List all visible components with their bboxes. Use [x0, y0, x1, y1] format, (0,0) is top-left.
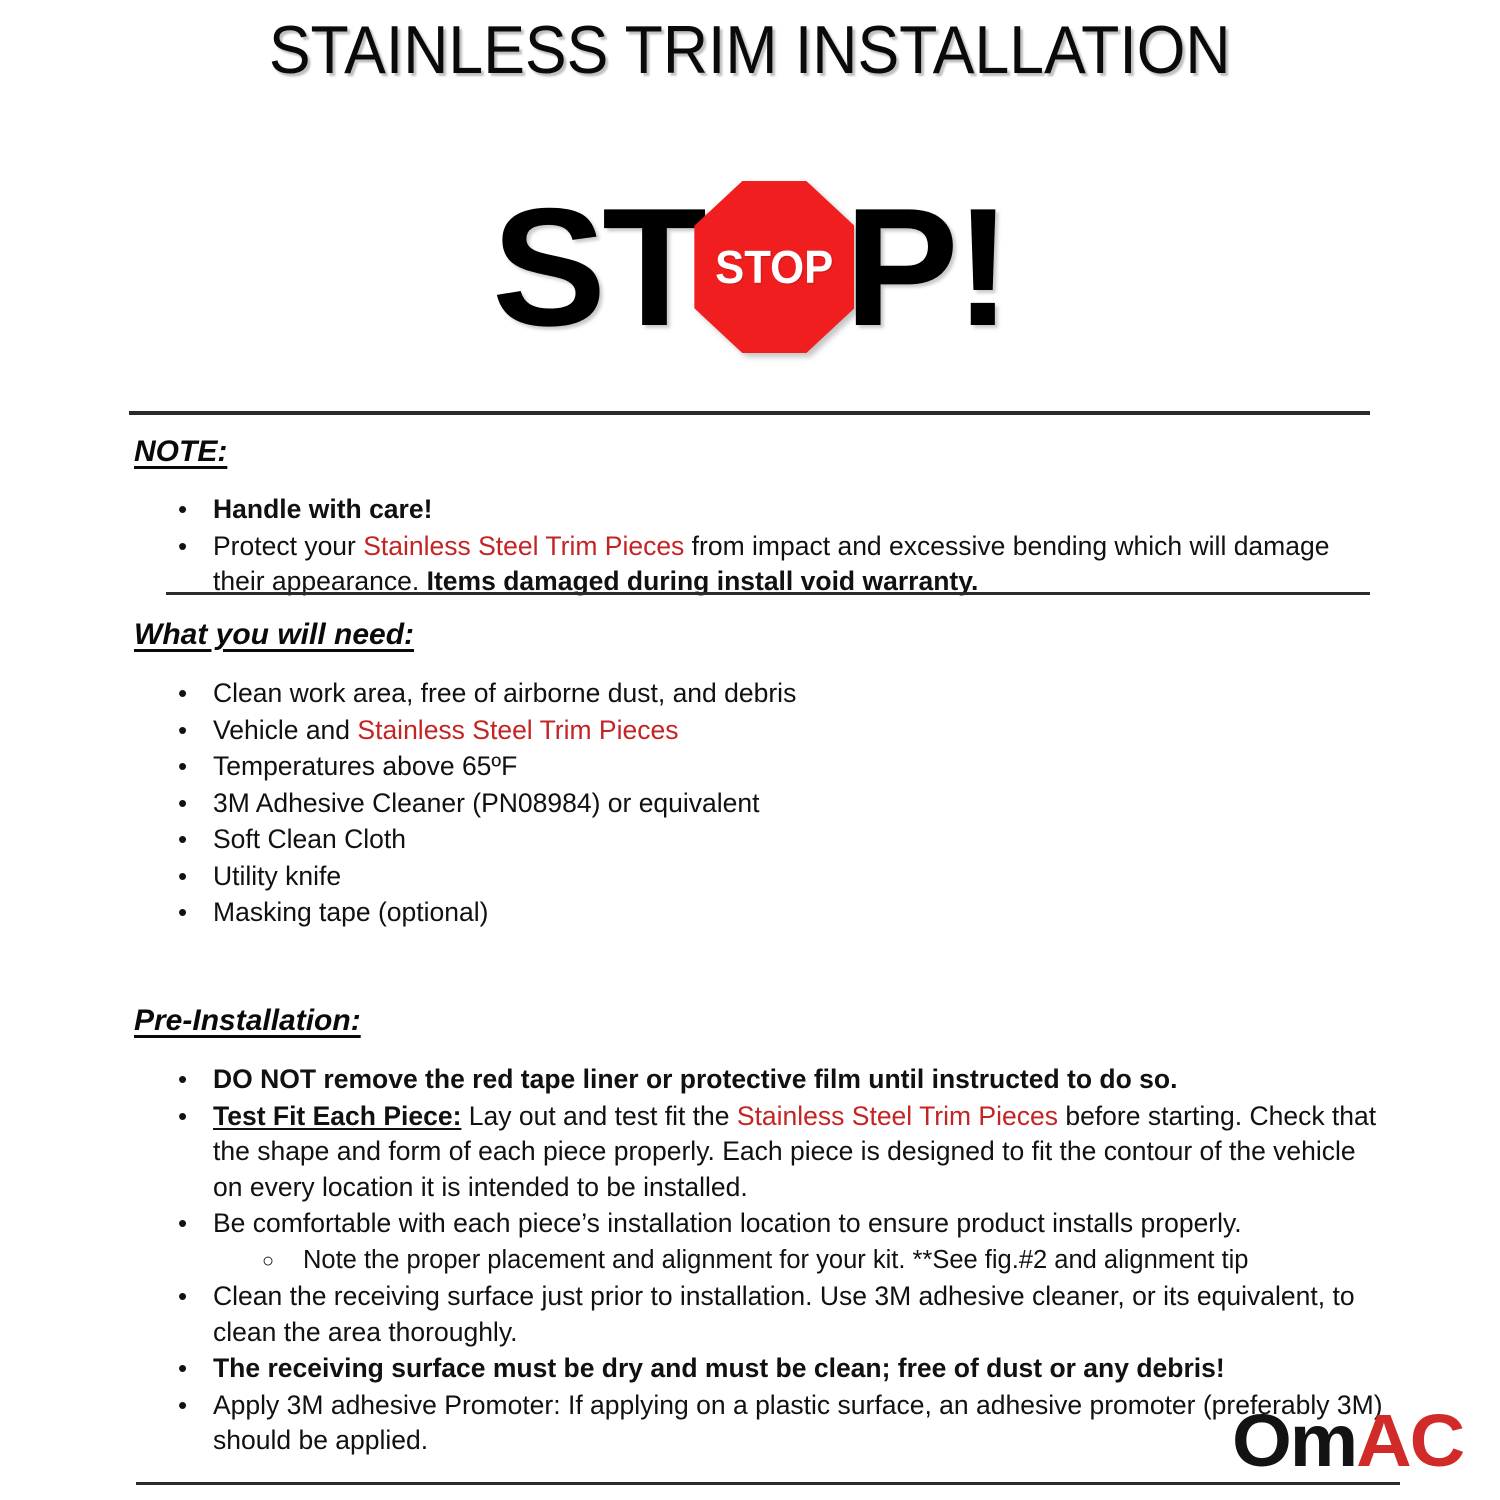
stop-graphic-inner: ST STOP P! — [494, 172, 1007, 362]
omac-logo: OmAC — [1232, 1404, 1463, 1478]
text-run: The receiving surface must be dry and mu… — [213, 1353, 1225, 1383]
list-item: ○Note the proper placement and alignment… — [170, 1243, 1385, 1279]
list-item: •Be comfortable with each piece’s instal… — [170, 1206, 1385, 1242]
list-item: •Test Fit Each Piece: Lay out and test f… — [170, 1099, 1385, 1206]
list-item-text: Utility knife — [213, 861, 341, 891]
text-run: Handle with care! — [213, 494, 432, 524]
text-run: Soft Clean Cloth — [213, 824, 406, 854]
section-heading-note: NOTE: — [134, 435, 227, 469]
list-item-text: The receiving surface must be dry and mu… — [213, 1353, 1225, 1383]
text-run: Stainless Steel Trim Pieces — [363, 531, 684, 561]
list-item: •3M Adhesive Cleaner (PN08984) or equiva… — [170, 786, 1370, 822]
list-item: •Temperatures above 65ºF — [170, 749, 1370, 785]
bullet-icon: • — [178, 895, 187, 931]
list-item: •Clean the receiving surface just prior … — [170, 1279, 1385, 1350]
text-run: Stainless Steel Trim Pieces — [737, 1101, 1058, 1131]
bullet-icon: • — [178, 1062, 187, 1098]
text-run: Temperatures above 65ºF — [213, 751, 517, 781]
text-run: Utility knife — [213, 861, 341, 891]
list-item: •Apply 3M adhesive Promoter: If applying… — [170, 1388, 1385, 1459]
list-item-text: DO NOT remove the red tape liner or prot… — [213, 1064, 1177, 1094]
list-item-text: Vehicle and Stainless Steel Trim Pieces — [213, 715, 678, 745]
page-title: STAINLESS TRIM INSTALLATION — [269, 12, 1231, 88]
text-run: Masking tape (optional) — [213, 897, 488, 927]
omac-logo-black: Om — [1232, 1399, 1356, 1482]
list-item: •Utility knife — [170, 859, 1370, 895]
list-item-text: Test Fit Each Piece: Lay out and test fi… — [213, 1101, 1376, 1202]
bullet-icon: • — [178, 859, 187, 895]
list-item-text: Protect your Stainless Steel Trim Pieces… — [213, 531, 1329, 597]
bullet-icon: • — [178, 529, 187, 565]
stop-sign-icon: STOP — [694, 181, 854, 353]
bullet-icon: • — [178, 713, 187, 749]
pre-installation-list: •DO NOT remove the red tape liner or pro… — [170, 1062, 1385, 1459]
list-item: •Vehicle and Stainless Steel Trim Pieces — [170, 713, 1370, 749]
list-item-text: Clean work area, free of airborne dust, … — [213, 678, 796, 708]
stop-sign-label: STOP — [715, 244, 833, 290]
text-run: DO NOT remove the red tape liner or prot… — [213, 1064, 1177, 1094]
bullet-icon: • — [178, 1099, 187, 1135]
list-item-text: Handle with care! — [213, 494, 432, 524]
list-item: •Soft Clean Cloth — [170, 822, 1370, 858]
what-you-will-need-list: •Clean work area, free of airborne dust,… — [170, 676, 1370, 931]
text-run: Clean the receiving surface just prior t… — [213, 1281, 1355, 1347]
text-run: Apply 3M adhesive Promoter: If applying … — [213, 1390, 1383, 1456]
section-heading-what-you-will-need: What you will need: — [134, 618, 414, 652]
section-heading-pre-installation: Pre-Installation: — [134, 1004, 361, 1038]
note-list: •Handle with care!•Protect your Stainles… — [170, 492, 1380, 600]
text-run: Test Fit Each Piece: — [213, 1101, 461, 1131]
list-item: •Masking tape (optional) — [170, 895, 1370, 931]
divider-note — [166, 592, 1370, 595]
bullet-icon: • — [178, 492, 187, 528]
bullet-icon: • — [178, 1388, 187, 1424]
text-run: Note the proper placement and alignment … — [303, 1246, 1248, 1274]
bullet-icon: • — [178, 749, 187, 785]
stop-letters-left: ST — [492, 182, 703, 352]
page-title-container: STAINLESS TRIM INSTALLATION — [0, 12, 1500, 88]
text-run: Clean work area, free of airborne dust, … — [213, 678, 796, 708]
list-item-text: Masking tape (optional) — [213, 897, 488, 927]
divider-bottom — [136, 1482, 1400, 1485]
omac-logo-red: AC — [1356, 1399, 1463, 1482]
list-item-text: Temperatures above 65ºF — [213, 751, 517, 781]
list-item: •Protect your Stainless Steel Trim Piece… — [170, 529, 1380, 600]
text-run: Protect your — [213, 531, 363, 561]
bullet-icon: • — [178, 676, 187, 712]
list-item-text: Soft Clean Cloth — [213, 824, 406, 854]
bullet-icon: • — [178, 786, 187, 822]
list-item-text: Clean the receiving surface just prior t… — [213, 1281, 1355, 1347]
sub-bullet-icon: ○ — [262, 1243, 274, 1279]
bullet-icon: • — [178, 1279, 187, 1315]
text-run: 3M Adhesive Cleaner (PN08984) or equival… — [213, 788, 760, 818]
bullet-icon: • — [178, 1206, 187, 1242]
text-run: Lay out and test fit the — [461, 1101, 736, 1131]
stop-graphic: ST STOP P! — [0, 172, 1500, 362]
list-item-text: Note the proper placement and alignment … — [303, 1246, 1248, 1274]
text-run: Be comfortable with each piece’s install… — [213, 1208, 1242, 1238]
octagon-shape: STOP — [694, 181, 854, 353]
bullet-icon: • — [178, 1351, 187, 1387]
list-item-text: 3M Adhesive Cleaner (PN08984) or equival… — [213, 788, 760, 818]
stop-letters-right: P! — [845, 182, 1008, 352]
list-item: •Clean work area, free of airborne dust,… — [170, 676, 1370, 712]
list-item-text: Apply 3M adhesive Promoter: If applying … — [213, 1390, 1383, 1456]
list-item: •The receiving surface must be dry and m… — [170, 1351, 1385, 1387]
text-run: Stainless Steel Trim Pieces — [357, 715, 678, 745]
text-run: Vehicle and — [213, 715, 357, 745]
list-item: •DO NOT remove the red tape liner or pro… — [170, 1062, 1385, 1098]
list-item: •Handle with care! — [170, 492, 1380, 528]
list-item-text: Be comfortable with each piece’s install… — [213, 1208, 1242, 1238]
divider-top — [129, 411, 1370, 415]
bullet-icon: • — [178, 822, 187, 858]
